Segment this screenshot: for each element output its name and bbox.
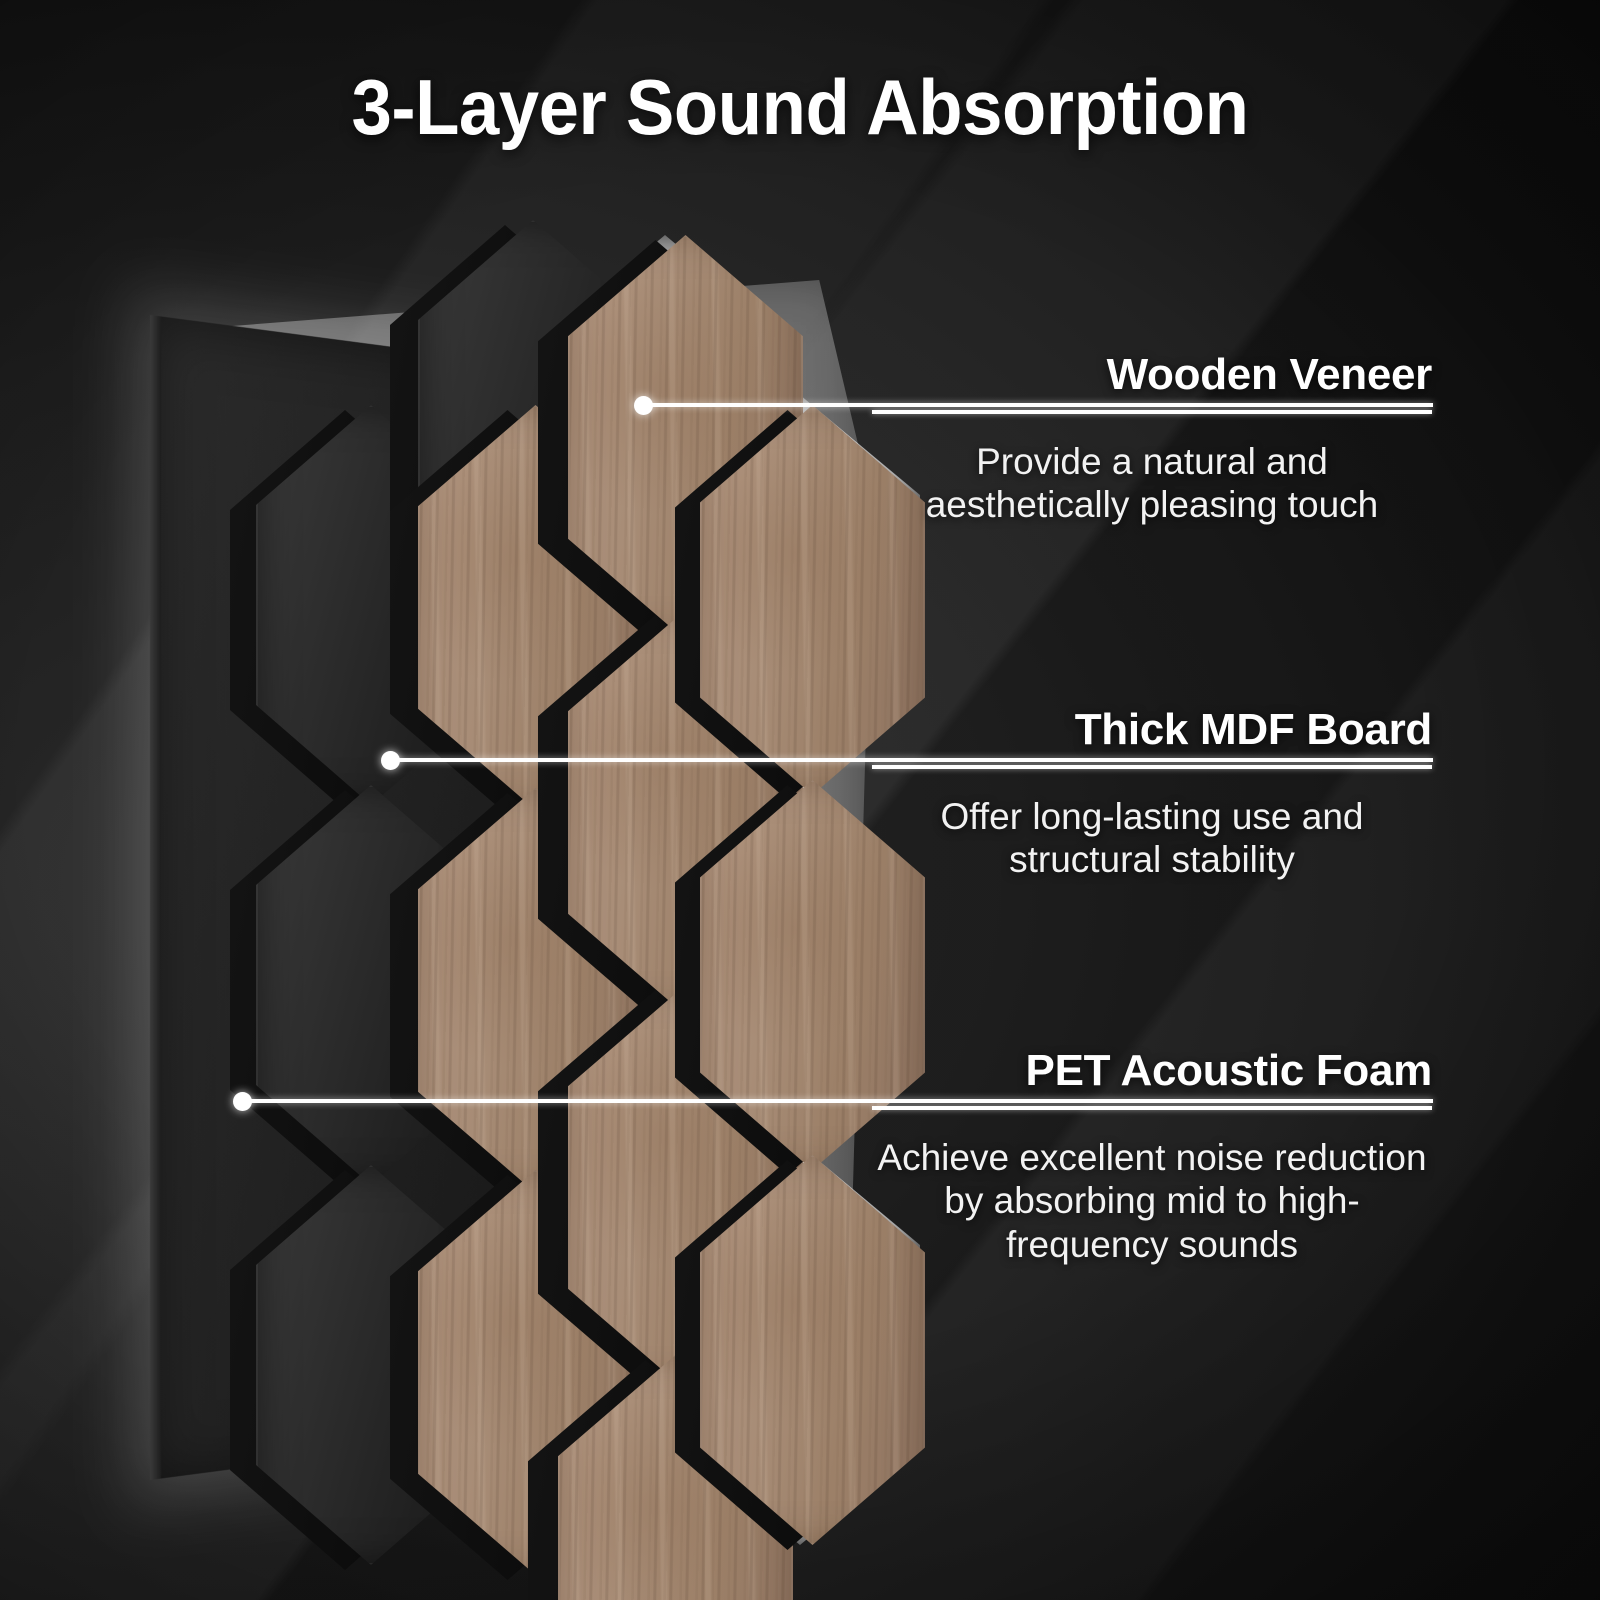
callout-wooden-veneer: Wooden Veneer Provide a natural and aest… <box>872 350 1432 527</box>
leader-dot-icon <box>381 751 400 770</box>
hexagon-tile-assembly <box>60 215 960 1545</box>
infographic-stage: 3-Layer Sound Absorption <box>0 0 1600 1600</box>
page-title: 3-Layer Sound Absorption <box>56 62 1544 153</box>
leader-dot-icon <box>233 1092 252 1111</box>
callout-rule <box>872 765 1432 769</box>
callout-body-wooden-veneer: Provide a natural and aesthetically plea… <box>872 440 1432 527</box>
callout-rule <box>872 410 1432 414</box>
callout-heading-pet-acoustic-foam: PET Acoustic Foam <box>872 1046 1432 1106</box>
callout-thick-mdf-board: Thick MDF Board Offer long-lasting use a… <box>872 705 1432 882</box>
callout-body-pet-acoustic-foam: Achieve excellent noise reduction by abs… <box>872 1136 1432 1266</box>
callout-body-thick-mdf-board: Offer long-lasting use and structural st… <box>872 795 1432 882</box>
callout-heading-thick-mdf-board: Thick MDF Board <box>872 705 1432 765</box>
leader-dot-icon <box>634 396 653 415</box>
callout-heading-wooden-veneer: Wooden Veneer <box>872 350 1432 410</box>
callout-pet-acoustic-foam: PET Acoustic Foam Achieve excellent nois… <box>872 1046 1432 1266</box>
callout-rule <box>872 1106 1432 1110</box>
product-illustration <box>60 215 960 1545</box>
